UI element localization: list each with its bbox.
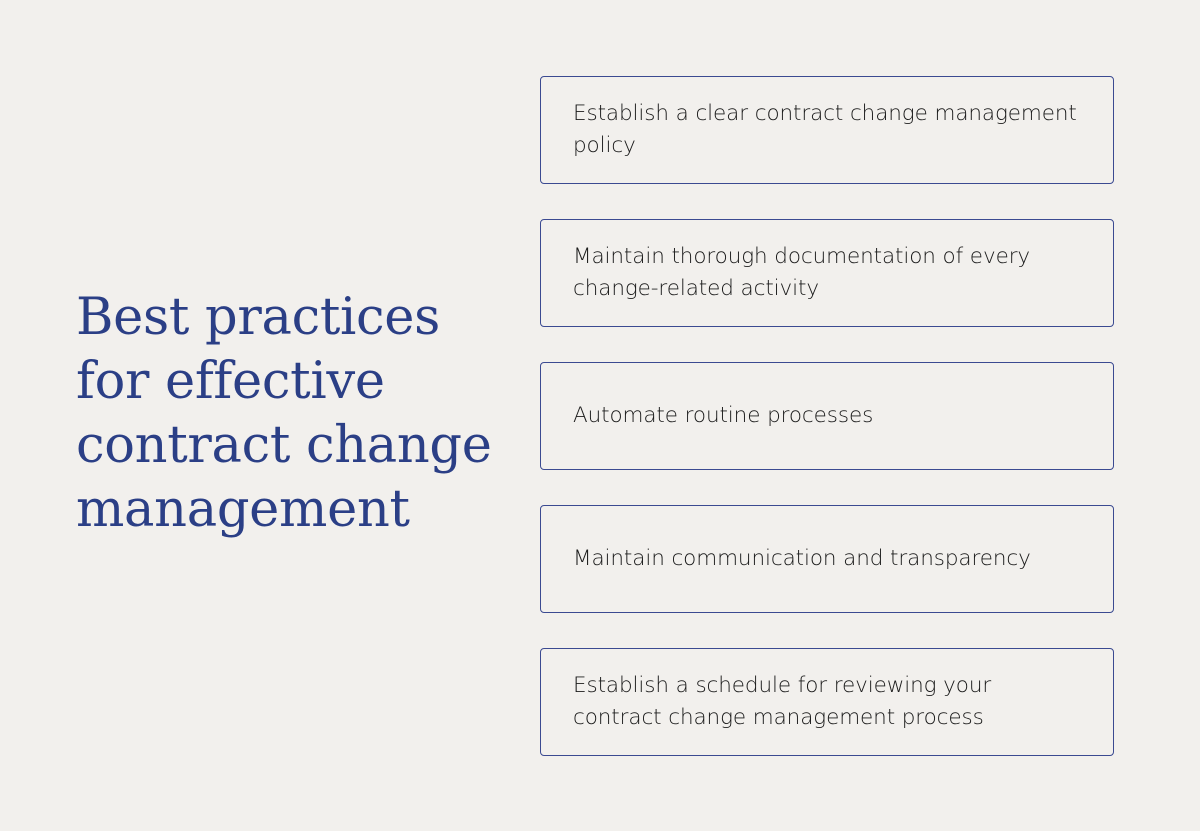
best-practices-list: Establish a clear contract change manage… <box>540 76 1114 756</box>
infographic-canvas: Best practices for effective contract ch… <box>0 0 1200 831</box>
list-item-label: Establish a schedule for reviewing your … <box>573 670 1083 734</box>
list-item: Maintain communication and transparency <box>540 505 1114 613</box>
list-item: Establish a schedule for reviewing your … <box>540 648 1114 756</box>
list-item-label: Maintain communication and transparency <box>573 543 1031 575</box>
page-title: Best practices for effective contract ch… <box>76 286 496 542</box>
list-item: Automate routine processes <box>540 362 1114 470</box>
list-item-label: Automate routine processes <box>573 400 873 432</box>
heading-column: Best practices for effective contract ch… <box>76 286 496 542</box>
list-item: Establish a clear contract change manage… <box>540 76 1114 184</box>
list-item: Maintain thorough documentation of every… <box>540 219 1114 327</box>
list-item-label: Establish a clear contract change manage… <box>573 98 1083 162</box>
list-item-label: Maintain thorough documentation of every… <box>573 241 1083 305</box>
